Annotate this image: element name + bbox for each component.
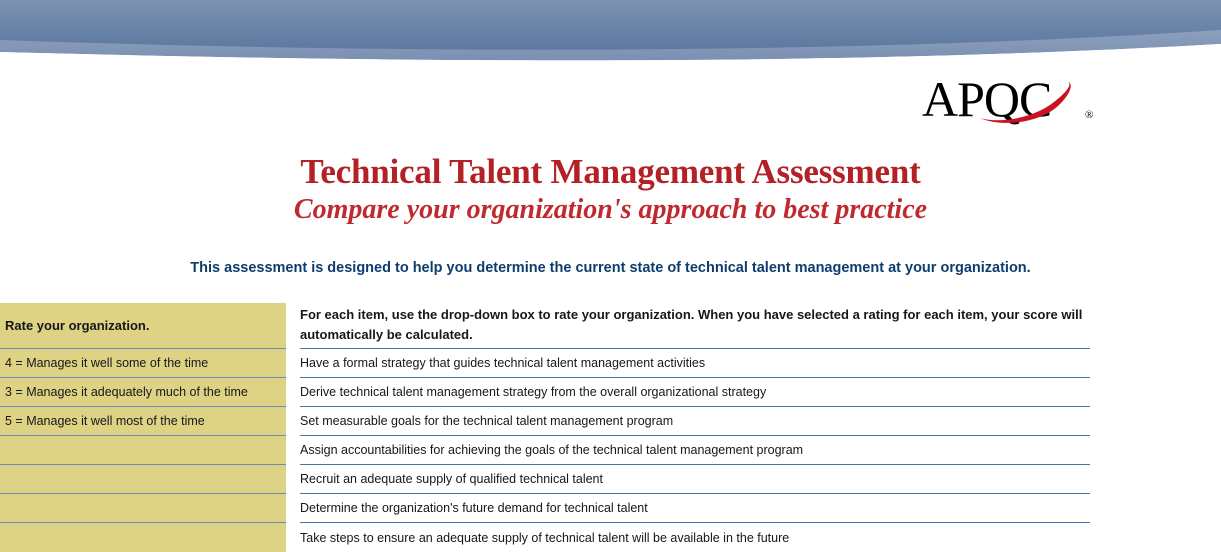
- apqc-logo: APQC ®: [922, 74, 1102, 130]
- rating-scale-column: Rate your organization. 4 = Manages it w…: [0, 303, 286, 552]
- rating-scale-empty-cell: [0, 436, 286, 465]
- assessment-description: This assessment is designed to help you …: [0, 260, 1221, 276]
- assessment-item-row[interactable]: Set measurable goals for the technical t…: [300, 407, 1090, 436]
- assessment-instructions: For each item, use the drop-down box to …: [300, 303, 1090, 349]
- rating-scale-item: 5 = Manages it well most of the time: [0, 407, 286, 436]
- title-block: Technical Talent Management Assessment C…: [0, 152, 1221, 227]
- assessment-item-row[interactable]: Recruit an adequate supply of qualified …: [300, 465, 1090, 494]
- apqc-registered-mark: ®: [1085, 109, 1093, 121]
- assessment-item-row[interactable]: Take steps to ensure an adequate supply …: [300, 523, 1090, 552]
- rating-scale-empty-cell: [0, 465, 286, 494]
- rating-scale-item: 3 = Manages it adequately much of the ti…: [0, 378, 286, 407]
- rating-scale-item: 4 = Manages it well some of the time: [0, 349, 286, 378]
- assessment-items-column: For each item, use the drop-down box to …: [300, 303, 1090, 552]
- rating-scale-header: Rate your organization.: [0, 303, 286, 349]
- assessment-item-row[interactable]: Assign accountabilities for achieving th…: [300, 436, 1090, 465]
- page-subtitle: Compare your organization's approach to …: [0, 193, 1221, 227]
- page-title: Technical Talent Management Assessment: [0, 152, 1221, 192]
- rating-scale-empty-cell: [0, 523, 286, 552]
- header-banner: [0, 0, 1221, 70]
- assessment-grid: Rate your organization. 4 = Manages it w…: [0, 303, 1221, 551]
- assessment-item-row[interactable]: Have a formal strategy that guides techn…: [300, 349, 1090, 378]
- assessment-item-row[interactable]: Derive technical talent management strat…: [300, 378, 1090, 407]
- rating-scale-empty-cell: [0, 494, 286, 523]
- assessment-item-row[interactable]: Determine the organization's future dema…: [300, 494, 1090, 523]
